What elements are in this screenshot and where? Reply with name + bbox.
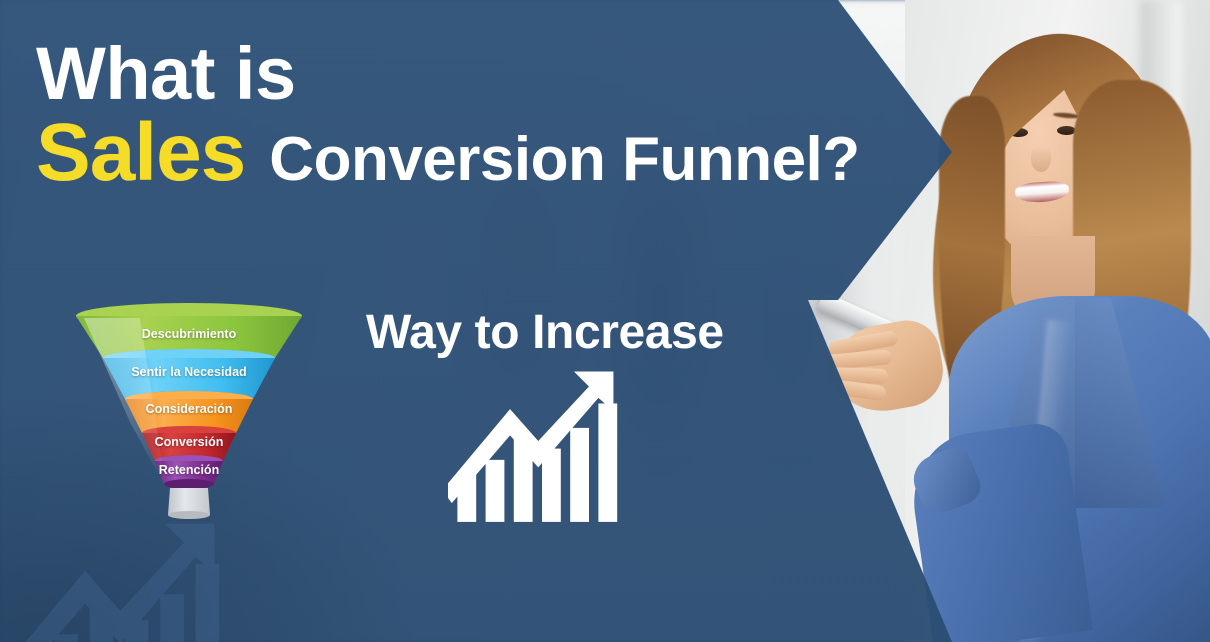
growth-chart-watermark-icon [6,512,244,642]
growth-chart-icon [448,362,636,522]
headline-line-1: What is [36,38,860,111]
nose [1031,146,1051,172]
headline-highlight-sales: Sales [36,107,245,198]
businesswoman-photo [905,0,1210,642]
headline-rest: Conversion Funnel? [269,125,859,194]
subheadline: Way to Increase [366,305,724,360]
headline-line-2: SalesConversion Funnel? [36,113,860,193]
sales-conversion-funnel: Descubrimiento Sentir la Necesidad Consi… [70,302,308,522]
page-title: What is SalesConversion Funnel? [36,38,860,193]
sales-funnel-banner: What is SalesConversion Funnel? Way to I… [0,0,1210,642]
